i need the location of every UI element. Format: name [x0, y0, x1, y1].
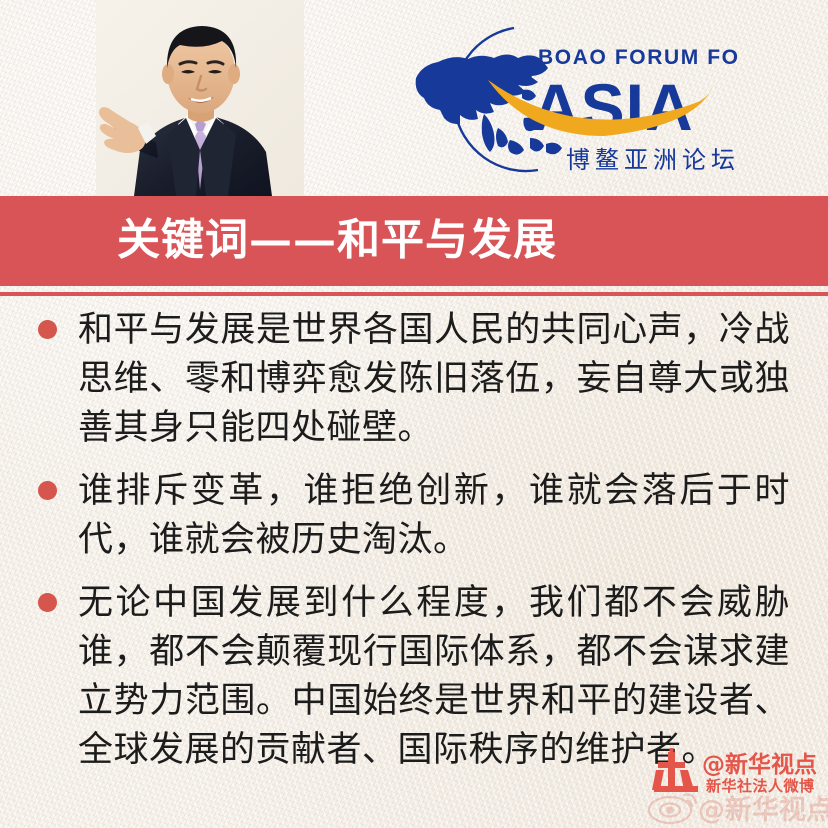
paragraph-text: 无论中国发展到什么程度，我们都不会威胁谁，都不会颠覆现行国际体系，都不会谋求建立… [78, 579, 790, 775]
bullet-paragraph: 谁排斥变革，谁拒绝创新，谁就会落后于时代，谁就会被历史淘汰。 [0, 467, 828, 565]
weibo-eye-icon [649, 795, 696, 823]
xinhua-handle-text: @新华视点 [702, 751, 817, 778]
boao-forum-logo: BOAO FORUM FOR ASIA 博鳌亚洲论坛 [398, 18, 738, 180]
logo-line3-text: 博鳌亚洲论坛 [566, 146, 738, 174]
banner-underline-rule [0, 292, 828, 296]
paragraph-text: 和平与发展是世界各国人民的共同心声，冷战思维、零和博弈愈发陈旧落伍，妄自尊大或独… [78, 306, 790, 453]
bullet-dot-icon [38, 481, 57, 500]
leader-portrait-photo [96, 0, 304, 196]
page-title: 关键词——和平与发展 [117, 220, 557, 263]
weibo-handle-text: @新华视点 [698, 794, 828, 826]
bullet-paragraph: 无论中国发展到什么程度，我们都不会威胁谁，都不会颠覆现行国际体系，都不会谋求建立… [0, 579, 828, 775]
logo-line1-text: BOAO FORUM FOR [538, 46, 738, 69]
paragraph-text: 谁排斥变革，谁拒绝创新，谁就会落后于时代，谁就会被历史淘汰。 [78, 467, 790, 565]
bullet-dot-icon [38, 593, 57, 612]
weibo-watermark: @新华视点 [640, 786, 828, 826]
bullet-dot-icon [38, 320, 57, 339]
title-banner: 关键词——和平与发展 [0, 196, 828, 286]
body-content: 和平与发展是世界各国人民的共同心声，冷战思维、零和博弈愈发陈旧落伍，妄自尊大或独… [0, 306, 828, 789]
bullet-paragraph: 和平与发展是世界各国人民的共同心声，冷战思维、零和博弈愈发陈旧落伍，妄自尊大或独… [0, 306, 828, 453]
header-area: BOAO FORUM FOR ASIA 博鳌亚洲论坛 [0, 0, 828, 196]
poster-canvas: BOAO FORUM FOR ASIA 博鳌亚洲论坛 关键词——和平与发展 和平… [0, 0, 828, 828]
